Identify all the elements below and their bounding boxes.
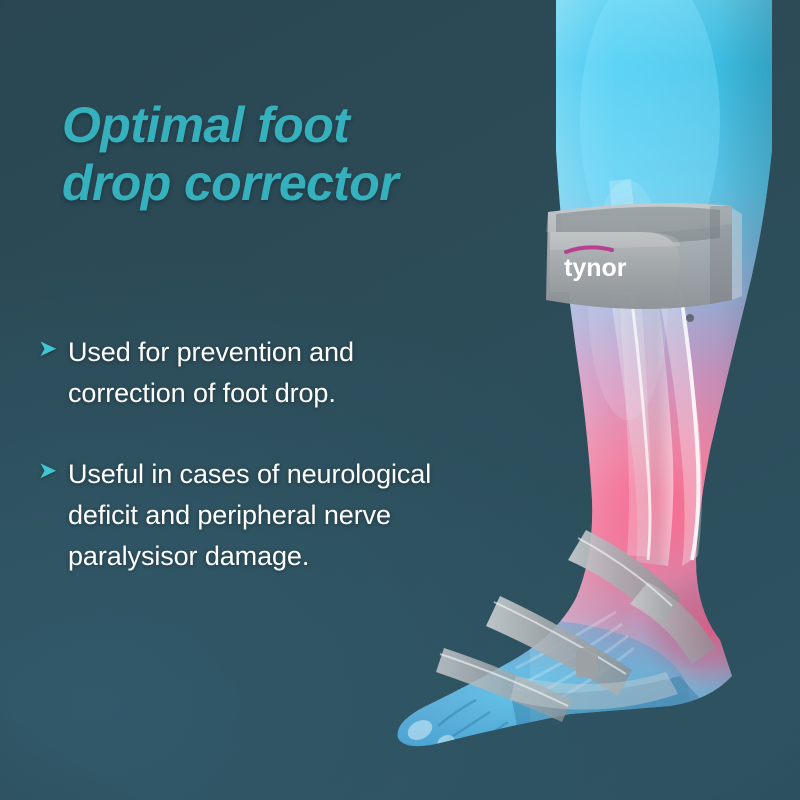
calf-cuff-strap: tynor [546, 203, 742, 309]
copy-column: Optimal foot drop corrector ➤ Used for p… [0, 0, 520, 800]
list-item: ➤ Used for prevention and correction of … [38, 332, 508, 414]
feature-text: Used for prevention and correction of fo… [68, 332, 354, 414]
list-item: ➤ Useful in cases of neurological defici… [38, 454, 508, 577]
arrow-bullet-icon: ➤ [38, 332, 68, 365]
arrow-bullet-icon: ➤ [38, 454, 68, 487]
strap-buckle [576, 648, 598, 678]
feature-text: Useful in cases of neurological deficit … [68, 454, 431, 577]
brand-label: tynor [564, 254, 627, 282]
page-title: Optimal foot drop corrector [62, 96, 492, 212]
feature-list: ➤ Used for prevention and correction of … [38, 332, 508, 617]
